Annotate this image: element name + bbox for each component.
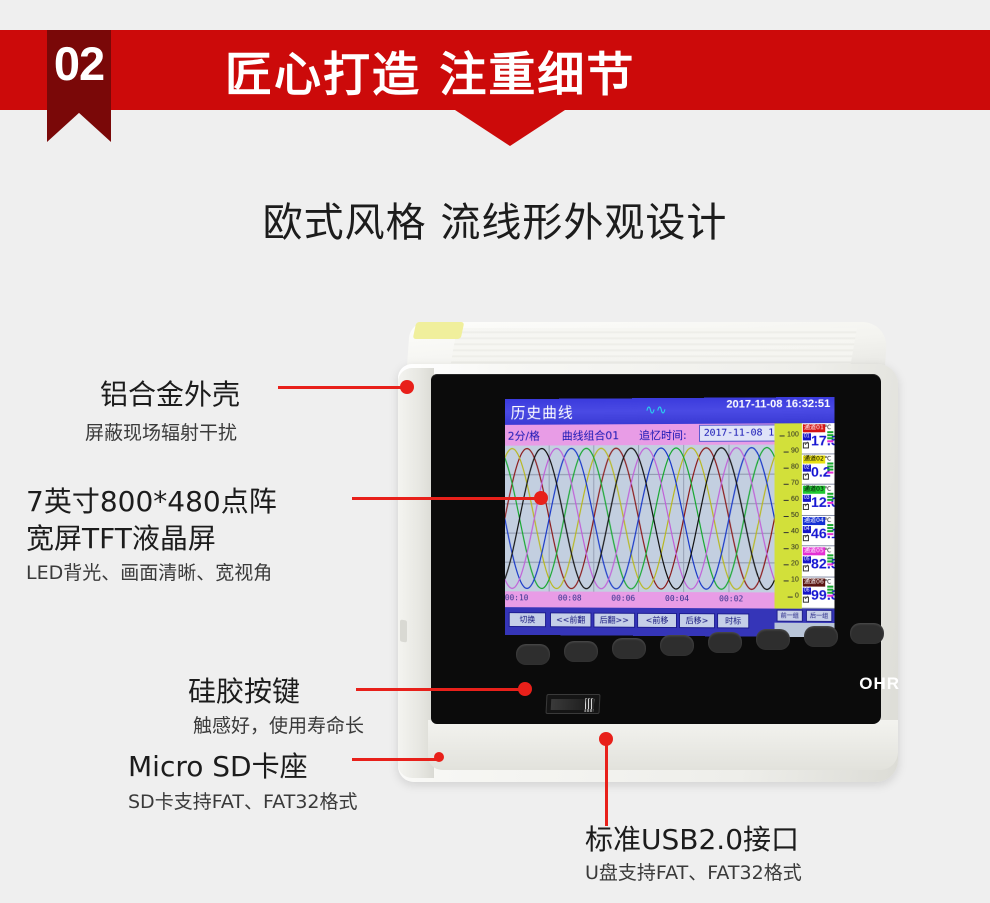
device-bottom-lip bbox=[428, 720, 898, 770]
channel-unit: ℃ bbox=[824, 579, 831, 586]
callout-case-title: 铝合金外壳 bbox=[100, 373, 240, 413]
silicone-key-8[interactable] bbox=[850, 623, 884, 644]
channel-bargraph bbox=[827, 555, 833, 567]
silicone-key-5[interactable] bbox=[708, 632, 742, 653]
channel-row[interactable]: 通道02℃020.2 bbox=[802, 454, 835, 485]
channel-index: 02 bbox=[803, 464, 811, 471]
section-number: 02 bbox=[54, 40, 104, 87]
callout-usb-line bbox=[605, 740, 608, 826]
y-tick: 100 bbox=[787, 431, 799, 438]
callout-usb-sub: U盘支持FAT、FAT32格式 bbox=[585, 858, 802, 885]
device-left-edge bbox=[398, 368, 434, 778]
channel-unit: ℃ bbox=[824, 548, 831, 555]
time-scale-label: 2分/格 bbox=[508, 428, 540, 444]
section-number-ribbon: 02 bbox=[47, 30, 111, 142]
channel-bargraph bbox=[827, 524, 833, 536]
channel-checkbox[interactable] bbox=[803, 504, 809, 510]
x-tick: 00:08 bbox=[558, 594, 582, 603]
silicone-key-4[interactable] bbox=[660, 635, 694, 656]
x-tick: 00:06 bbox=[611, 594, 635, 603]
x-tick: 00:10 bbox=[505, 593, 529, 602]
channel-bargraph bbox=[827, 431, 833, 443]
silicone-key-1[interactable] bbox=[516, 644, 550, 665]
channel-name: 通道04 bbox=[803, 517, 825, 525]
callout-sd-title: Micro SD卡座 bbox=[128, 745, 308, 785]
channel-unit: ℃ bbox=[824, 424, 831, 431]
callout-lcd-title-2: 宽屏TFT液晶屏 bbox=[26, 517, 216, 557]
channel-unit: ℃ bbox=[824, 455, 831, 462]
callout-lcd-sub: LED背光、画面清晰、宽视角 bbox=[26, 558, 272, 585]
curve-group-label[interactable]: 曲线组合01 bbox=[562, 427, 619, 443]
soft-button[interactable]: <前移 bbox=[637, 613, 677, 628]
channel-index: 05 bbox=[803, 557, 811, 564]
screen-toolbar: 2分/格 曲线组合01 追忆时间: 2017-11-08 16:32:30 bbox=[505, 423, 775, 445]
channel-checkbox[interactable] bbox=[803, 442, 809, 448]
channel-panel: 通道01℃0117.5通道02℃020.2通道03℃0312.0通道04℃044… bbox=[802, 423, 835, 609]
lcd-screen[interactable]: 历史曲线 ∿∿ 2017-11-08 16:32:51 2分/格 曲线组合01 … bbox=[505, 397, 835, 637]
channel-row[interactable]: 通道04℃0446.1 bbox=[802, 516, 835, 547]
screen-title: 历史曲线 bbox=[511, 402, 574, 423]
channel-bargraph bbox=[827, 462, 833, 474]
y-tick: 40 bbox=[791, 528, 799, 535]
channel-checkbox[interactable] bbox=[803, 473, 809, 479]
soft-button[interactable]: 后翻>> bbox=[593, 613, 635, 628]
channel-name: 通道02 bbox=[803, 455, 825, 463]
channel-bargraph bbox=[827, 586, 833, 598]
recall-time-label: 追忆时间: bbox=[639, 427, 687, 443]
y-tick: 60 bbox=[791, 496, 799, 503]
callout-lcd-title-1: 7英寸800*480点阵 bbox=[26, 480, 277, 520]
banner-title: 匠心打造 注重细节 bbox=[225, 36, 635, 105]
silicone-key-7[interactable] bbox=[804, 626, 838, 647]
group-button[interactable]: 前一组 bbox=[777, 610, 803, 622]
callout-lcd-line bbox=[352, 497, 542, 500]
waveform-logo-icon: ∿∿ bbox=[645, 403, 667, 418]
callout-keys-sub: 触感好，使用寿命长 bbox=[193, 711, 364, 738]
y-axis-scale: 1009080706050403020100 bbox=[775, 423, 802, 608]
channel-row[interactable]: 通道01℃0117.5 bbox=[802, 423, 835, 454]
channel-row[interactable]: 通道06℃0699.8 bbox=[802, 577, 835, 608]
callout-keys-title: 硅胶按键 bbox=[188, 670, 300, 710]
curve-svg bbox=[505, 445, 775, 593]
callout-usb-dot bbox=[599, 732, 613, 746]
callout-sd-sub: SD卡支持FAT、FAT32格式 bbox=[128, 787, 358, 814]
callout-sd-line bbox=[352, 758, 440, 761]
channel-name: 通道05 bbox=[803, 548, 825, 556]
y-tick: 20 bbox=[791, 560, 799, 567]
channel-unit: ℃ bbox=[824, 517, 831, 524]
usb-port[interactable] bbox=[545, 694, 600, 714]
callout-keys-dot bbox=[518, 682, 532, 696]
soft-button[interactable]: 时标 bbox=[717, 613, 749, 628]
channel-bargraph bbox=[827, 493, 833, 505]
channel-unit: ℃ bbox=[824, 486, 831, 493]
x-tick: 00:02 bbox=[719, 594, 743, 603]
channel-row[interactable]: 通道05℃0582.5 bbox=[802, 547, 835, 578]
channel-name: 通道06 bbox=[803, 578, 825, 586]
channel-index: 01 bbox=[803, 433, 811, 440]
channel-row[interactable]: 通道03℃0312.0 bbox=[802, 485, 835, 516]
callout-sd-dot bbox=[434, 752, 444, 762]
silicone-key-2[interactable] bbox=[564, 641, 598, 662]
y-tick: 80 bbox=[791, 464, 799, 471]
screen-datetime: 2017-11-08 16:32:51 bbox=[726, 398, 830, 411]
callout-case-sub: 屏蔽现场辐射干扰 bbox=[85, 418, 237, 445]
y-tick: 70 bbox=[791, 480, 799, 487]
device-photo: 历史曲线 ∿∿ 2017-11-08 16:32:51 2分/格 曲线组合01 … bbox=[398, 322, 918, 782]
x-axis: 00:1000:0800:0600:0400:02 bbox=[505, 591, 775, 608]
y-tick: 0 bbox=[795, 593, 799, 600]
callout-lcd-dot bbox=[534, 491, 548, 505]
callout-usb-title: 标准USB2.0接口 bbox=[585, 818, 799, 858]
device-yellow-tab bbox=[413, 322, 465, 339]
group-button[interactable]: 后一组 bbox=[806, 610, 832, 622]
callout-case-line bbox=[278, 386, 406, 389]
channel-checkbox[interactable] bbox=[803, 566, 809, 572]
channel-index: 06 bbox=[803, 588, 811, 595]
banner-arrow bbox=[455, 110, 565, 146]
promo-page: 02 匠心打造 注重细节 欧式风格 流线形外观设计 历史曲线 ∿∿ 2017-1… bbox=[0, 0, 990, 903]
channel-name: 通道03 bbox=[803, 486, 825, 494]
page-subtitle: 欧式风格 流线形外观设计 bbox=[0, 190, 990, 248]
callout-case-dot bbox=[400, 380, 414, 394]
x-tick: 00:04 bbox=[665, 594, 689, 603]
channel-checkbox[interactable] bbox=[803, 535, 809, 541]
brand-logo: OHR bbox=[859, 674, 900, 694]
silicone-key-6[interactable] bbox=[756, 629, 790, 650]
soft-button[interactable]: <<前翻 bbox=[550, 612, 591, 627]
micro-sd-slot[interactable] bbox=[400, 620, 407, 643]
channel-name: 通道01 bbox=[803, 424, 825, 432]
group-button-bar: 前一组后一组 bbox=[775, 609, 835, 623]
silicone-key-3[interactable] bbox=[612, 638, 646, 659]
channel-checkbox[interactable] bbox=[803, 597, 809, 603]
usb-pins-icon bbox=[585, 698, 595, 712]
soft-button[interactable]: 后移> bbox=[679, 613, 715, 628]
channel-index: 04 bbox=[803, 526, 811, 533]
y-tick: 30 bbox=[791, 544, 799, 551]
y-tick: 90 bbox=[791, 447, 799, 454]
channel-index: 03 bbox=[803, 495, 811, 502]
y-tick: 50 bbox=[791, 512, 799, 519]
soft-button[interactable]: 切换 bbox=[509, 612, 546, 627]
callout-keys-line bbox=[356, 688, 524, 691]
curve-plot-area[interactable] bbox=[505, 445, 775, 593]
y-tick: 10 bbox=[791, 576, 799, 583]
